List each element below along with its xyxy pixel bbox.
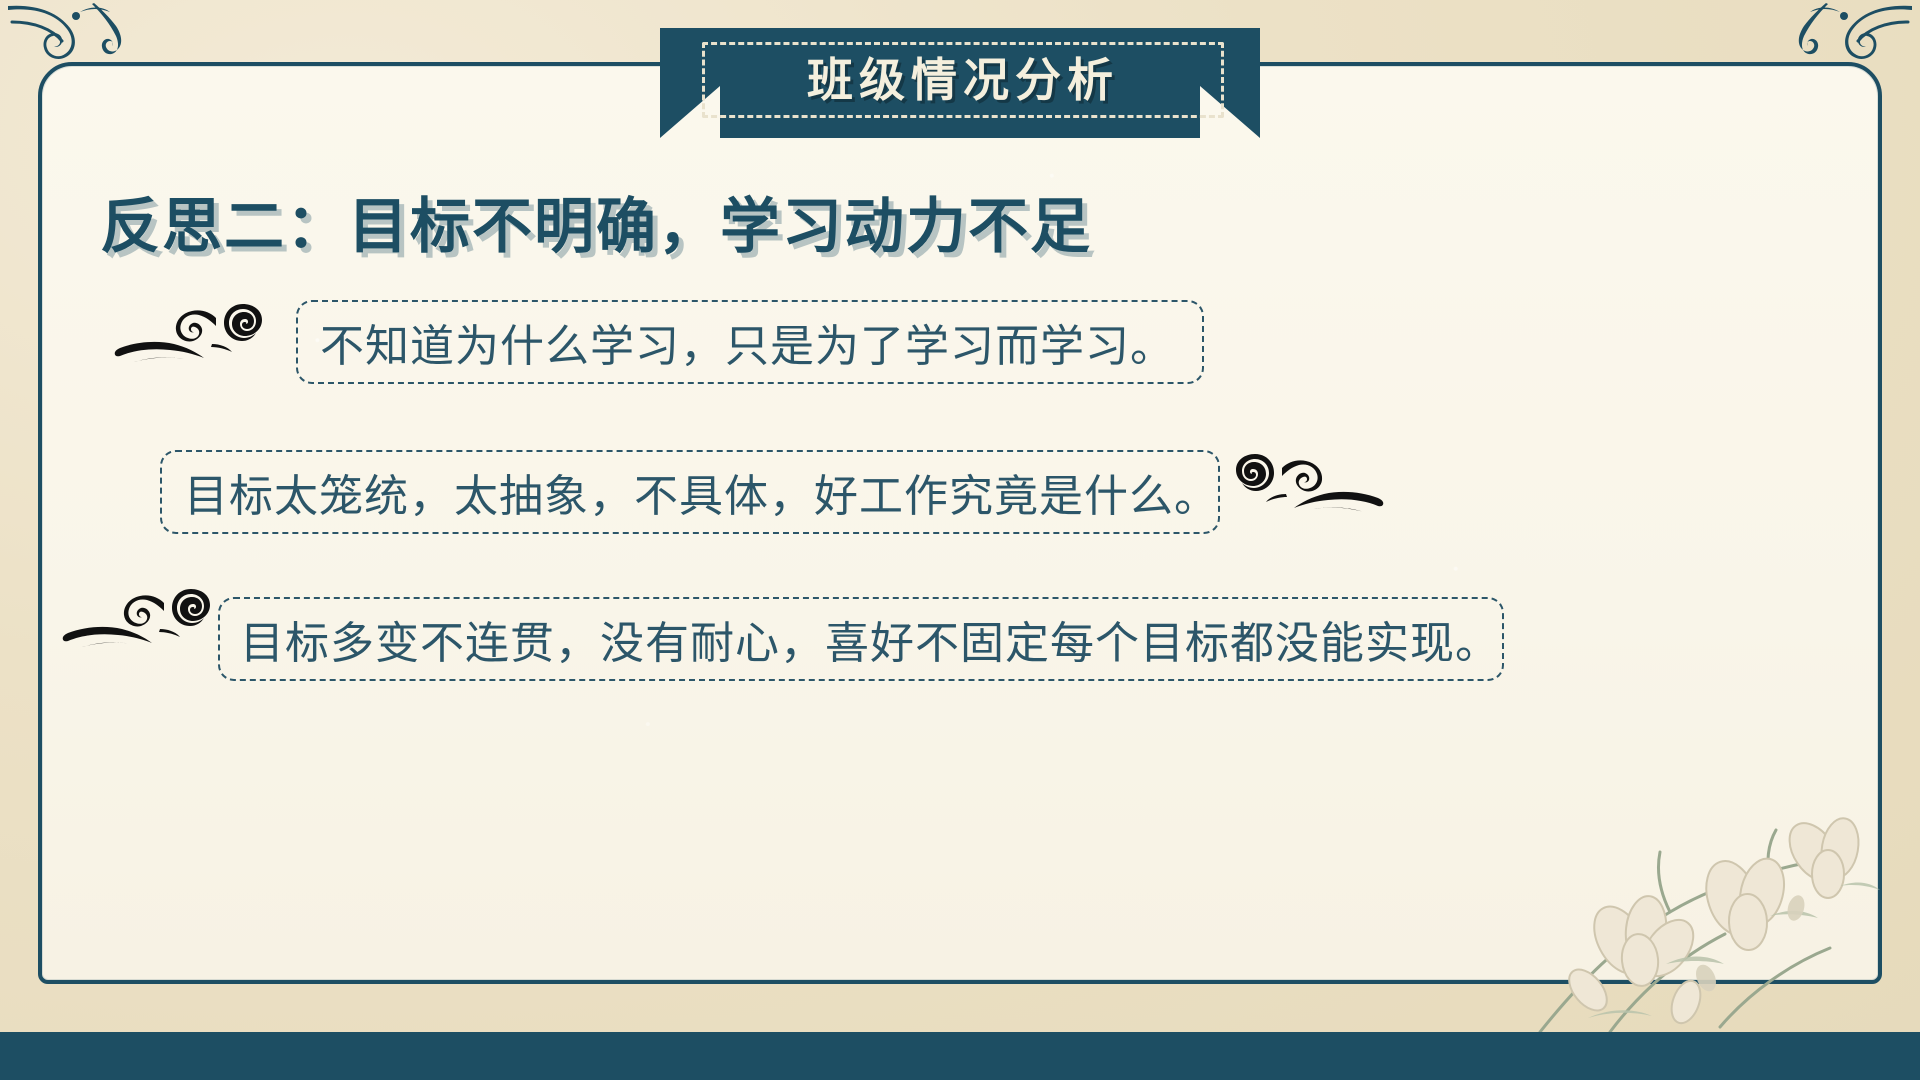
banner-dashed-frame: 班级情况分析 bbox=[702, 42, 1224, 118]
point-box-2: 目标太笼统，太抽象，不具体，好工作究竟是什么。 bbox=[160, 450, 1220, 534]
point-box-1: 不知道为什么学习，只是为了学习而学习。 bbox=[296, 300, 1204, 384]
slide-canvas: 班级情况分析 反思二：目标不明确，学习动力不足 bbox=[0, 0, 1920, 1080]
point-text-2: 目标太笼统，太抽象，不具体，好工作究竟是什么。 bbox=[184, 460, 1219, 524]
point-box-3: 目标多变不连贯，没有耐心，喜好不固定每个目标都没能实现。 bbox=[218, 597, 1504, 681]
footer-bar bbox=[0, 1032, 1920, 1080]
point-text-1: 不知道为什么学习，只是为了学习而学习。 bbox=[320, 310, 1175, 374]
title-banner: 班级情况分析 bbox=[660, 28, 1260, 138]
page-title: 反思二：目标不明确，学习动力不足 bbox=[100, 178, 1092, 265]
banner-title: 班级情况分析 bbox=[807, 57, 1119, 103]
point-text-3: 目标多变不连贯，没有耐心，喜好不固定每个目标都没能实现。 bbox=[240, 607, 1500, 671]
